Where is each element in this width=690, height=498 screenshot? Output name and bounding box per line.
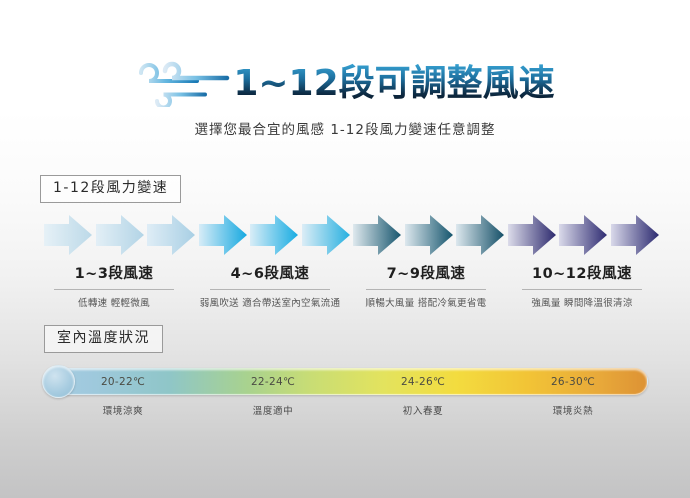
temperature-bar: 20-22℃22-24℃24-26℃26-30℃ — [48, 368, 648, 395]
wind-speed-group: 1~3段風速低轉速 輕輕微風 — [36, 262, 192, 309]
temperature-range-value: 26-30℃ — [498, 368, 648, 395]
section-label-room-temperature: 室內溫度狀況 — [44, 325, 163, 353]
wind-speed-arrow — [456, 213, 505, 257]
temperature-range-caption: 溫度適中 — [198, 403, 348, 417]
wind-speed-group: 7~9段風速順暢大風量 搭配冷氣更省電 — [348, 262, 504, 309]
wind-speed-group-title: 10~12段風速 — [532, 262, 632, 287]
wind-speed-group-list: 1~3段風速低轉速 輕輕微風4~6段風速弱風吹送 適合帶送室內空氣流通7~9段風… — [36, 262, 660, 309]
temperature-range-caption: 環境炎熱 — [498, 403, 648, 417]
temperature-range-value: 22-24℃ — [198, 368, 348, 395]
page-subtitle: 選擇您最合宜的風感 1-12段風力變速任意調整 — [0, 118, 690, 138]
title-row: 1~12段可調整風速 — [0, 58, 690, 110]
divider — [54, 289, 174, 290]
wind-speed-group-title: 4~6段風速 — [231, 262, 310, 287]
wind-icon — [135, 61, 231, 107]
temperature-caption-list: 環境涼爽溫度適中初入春夏環境炎熱 — [48, 403, 648, 417]
wind-speed-group-title: 1~3段風速 — [75, 262, 154, 287]
promo-page: 1~12段可調整風速 選擇您最合宜的風感 1-12段風力變速任意調整 1-12段… — [0, 0, 690, 498]
divider — [522, 289, 642, 290]
page-title: 1~12段可調整風速 — [233, 62, 554, 106]
wind-speed-arrow — [302, 213, 351, 257]
wind-speed-group-title: 7~9段風速 — [387, 262, 466, 287]
wind-speed-arrow — [611, 213, 660, 257]
wind-speed-group-desc: 弱風吹送 適合帶送室內空氣流通 — [192, 295, 348, 309]
wind-speed-arrow — [199, 213, 248, 257]
temperature-range-caption: 初入春夏 — [348, 403, 498, 417]
wind-speed-arrow — [44, 213, 93, 257]
wind-speed-arrow — [559, 213, 608, 257]
divider — [366, 289, 486, 290]
wind-speed-arrow — [508, 213, 557, 257]
wind-speed-group: 4~6段風速弱風吹送 適合帶送室內空氣流通 — [192, 262, 348, 309]
section-label-wind-speed: 1-12段風力變速 — [40, 175, 181, 203]
wind-speed-group: 10~12段風速強風量 瞬間降溫很清涼 — [504, 262, 660, 309]
wind-speed-arrow — [147, 213, 196, 257]
wind-speed-arrow — [250, 213, 299, 257]
temperature-value-list: 20-22℃22-24℃24-26℃26-30℃ — [48, 368, 648, 395]
temperature-range-value: 20-22℃ — [48, 368, 198, 395]
temperature-range-caption: 環境涼爽 — [48, 403, 198, 417]
page-header: 1~12段可調整風速 選擇您最合宜的風感 1-12段風力變速任意調整 — [0, 58, 690, 138]
temperature-range-value: 24-26℃ — [348, 368, 498, 395]
wind-speed-arrow — [96, 213, 145, 257]
wind-speed-group-desc: 順暢大風量 搭配冷氣更省電 — [348, 295, 504, 309]
wind-speed-group-desc: 強風量 瞬間降溫很清涼 — [504, 295, 660, 309]
wind-speed-arrow-row — [44, 213, 660, 257]
wind-speed-arrow — [405, 213, 454, 257]
wind-speed-arrow — [353, 213, 402, 257]
wind-speed-group-desc: 低轉速 輕輕微風 — [36, 295, 192, 309]
divider — [210, 289, 330, 290]
